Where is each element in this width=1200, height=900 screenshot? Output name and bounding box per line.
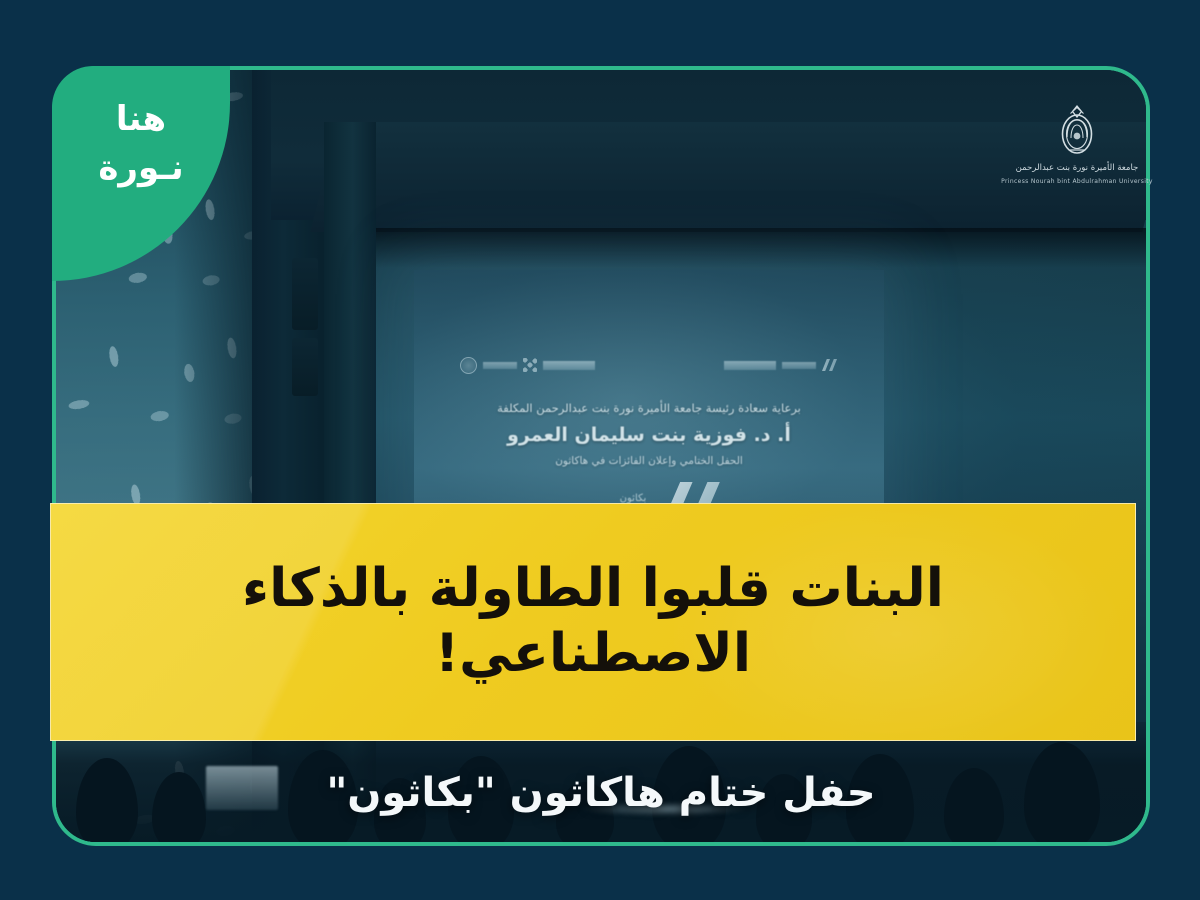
university-name-ar: جامعة الأميرة نورة بنت عبدالرحمن — [1016, 163, 1139, 173]
photo-caption: حفل ختام هاكاثون "بكاثون" — [56, 770, 1146, 816]
university-seal-icon — [1055, 104, 1099, 158]
screen-patronage-line: برعاية سعادة رئيسة جامعة الأميرة نورة بن… — [426, 400, 872, 417]
ai-center-logo-icon — [523, 358, 537, 372]
university-seal-icon — [460, 357, 477, 374]
poster-canvas: برعاية سعادة رئيسة جامعة الأميرة نورة بن… — [0, 0, 1200, 900]
sponsor-logo-hackathon — [724, 359, 838, 371]
hackathon-wordmark — [782, 362, 816, 369]
screen-brand-ar: بكاثون — [620, 493, 647, 504]
screen-sponsor-logos — [414, 348, 884, 382]
brand-badge-line-2: نـورة — [52, 149, 230, 188]
headline-band: البنات قلبوا الطاولة بالذكاء الاصطناعي! — [50, 503, 1136, 741]
sponsor-logo-ai-center — [460, 357, 595, 374]
stage-speaker-upper — [292, 258, 318, 330]
third-sponsor-wordmark — [483, 362, 517, 369]
hackathon-mark-icon — [822, 359, 838, 371]
brand-badge-line-1: هنا — [52, 100, 230, 139]
screen-speaker-name: أ. د. فوزية بنت سليمان العمرو — [426, 422, 872, 449]
screen-text-block: برعاية سعادة رئيسة جامعة الأميرة نورة بن… — [426, 400, 872, 470]
screen-event-line: الحفل الختامي وإعلان الفائزات في هاكاثون — [426, 454, 872, 470]
headline-text: البنات قلبوا الطاولة بالذكاء الاصطناعي! — [51, 557, 1135, 686]
brand-badge-text: هنا نـورة — [52, 100, 230, 188]
ai-center-wordmark — [543, 361, 595, 370]
university-logo: جامعة الأميرة نورة بنت عبدالرحمن Princes… — [1016, 104, 1138, 185]
university-name-en: Princess Nourah bint Abdulrahman Univers… — [1001, 178, 1153, 185]
stage-shadow-band — [376, 228, 1146, 268]
stage-speaker-lower — [292, 338, 318, 396]
hackathon-wordmark-ar — [724, 361, 776, 370]
